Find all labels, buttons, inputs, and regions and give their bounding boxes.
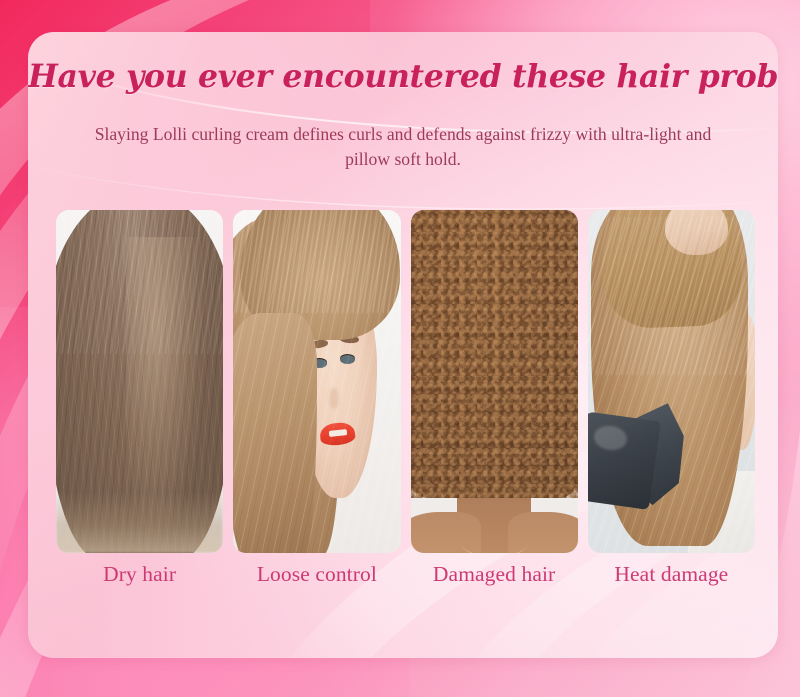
promo-card: Have you ever encountered these hair pro… <box>28 32 778 658</box>
problem-panel-strip <box>56 210 755 553</box>
problem-panel-loose-control[interactable] <box>233 210 400 553</box>
heat-damage-photo <box>588 210 755 553</box>
problem-panel-dry-hair[interactable] <box>56 210 223 553</box>
caption-heat-damage: Heat damage <box>588 562 755 587</box>
page-title: Have you ever encountered these hair pro… <box>28 58 778 95</box>
problem-panel-heat-damage[interactable] <box>588 210 755 553</box>
caption-dry-hair: Dry hair <box>56 562 223 587</box>
caption-damaged-hair: Damaged hair <box>411 562 578 587</box>
problem-panel-damaged-hair[interactable] <box>411 210 578 553</box>
loose-control-photo <box>233 210 400 553</box>
promo-banner: Have you ever encountered these hair pro… <box>0 0 800 697</box>
subtitle-text: Slaying Lolli curling cream defines curl… <box>93 122 713 172</box>
caption-row: Dry hair Loose control Damaged hair Heat… <box>56 562 755 587</box>
hair-dryer-body <box>588 411 661 510</box>
dry-hair-photo <box>56 210 223 553</box>
damaged-hair-photo <box>411 210 578 553</box>
caption-loose-control: Loose control <box>233 562 400 587</box>
